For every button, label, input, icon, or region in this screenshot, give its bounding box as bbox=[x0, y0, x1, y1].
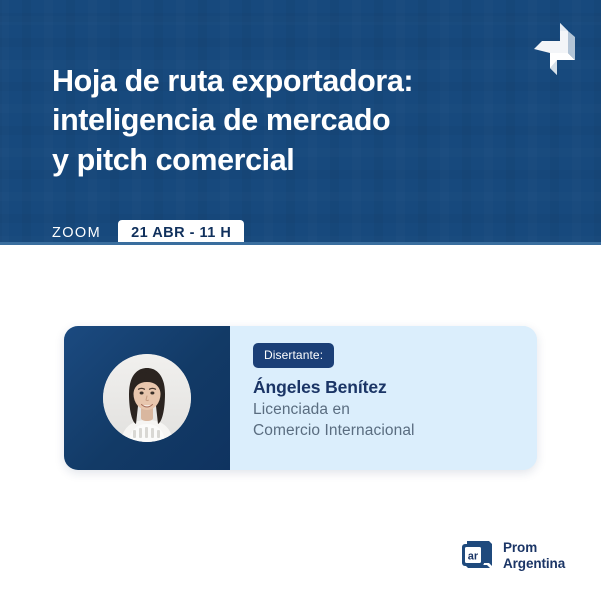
prom-argentina-mark-icon: ar bbox=[459, 539, 495, 573]
status-badge: Disertante: bbox=[253, 343, 334, 368]
page-title: Hoja de ruta exportadora: inteligencia d… bbox=[52, 62, 522, 180]
speaker-role-line-1: Licenciada en bbox=[253, 400, 537, 421]
footer-wordmark-line-1: Prom bbox=[503, 540, 565, 556]
speaker-role-line-2: Comercio Internacional bbox=[253, 421, 537, 442]
title-line-3: y pitch comercial bbox=[52, 141, 522, 180]
speaker-photo-panel bbox=[64, 326, 230, 470]
avatar bbox=[103, 354, 191, 442]
speaker-role: Licenciada en Comercio Internacional bbox=[253, 400, 537, 441]
event-platform-label: ZOOM bbox=[52, 225, 101, 241]
footer-wordmark-line-2: Argentina bbox=[503, 556, 565, 572]
footer-wordmark: Prom Argentina bbox=[503, 540, 565, 572]
header-bottom-rule bbox=[0, 242, 601, 245]
svg-text:ar: ar bbox=[468, 551, 479, 563]
header-banner: Hoja de ruta exportadora: inteligencia d… bbox=[0, 0, 601, 245]
speaker-card: Disertante: Ángeles Benítez Licenciada e… bbox=[64, 326, 537, 470]
speaker-name: Ángeles Benítez bbox=[253, 377, 537, 398]
title-line-1: Hoja de ruta exportadora: bbox=[52, 62, 522, 101]
footer-logo: ar Prom Argentina bbox=[459, 539, 565, 573]
speaker-info-panel: Disertante: Ángeles Benítez Licenciada e… bbox=[230, 326, 537, 470]
title-line-2: inteligencia de mercado bbox=[52, 101, 522, 140]
arrow-up-right-icon bbox=[524, 19, 582, 77]
